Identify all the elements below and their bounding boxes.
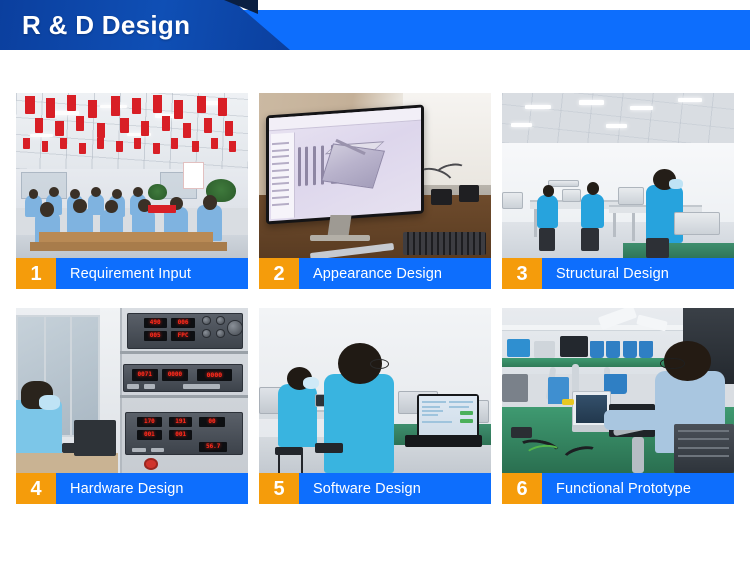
led-readout: 005 [150,333,161,339]
card-label-bar: 6 Functional Prototype [502,473,734,504]
page-title: R & D Design [22,0,190,50]
led-readout: 490 [150,320,161,326]
led-readout: 56.7 [206,444,220,450]
card-number-badge: 1 [16,258,56,289]
led-readout: 191 [175,419,186,425]
process-card[interactable]: 5 Software Design [259,308,491,504]
led-readout: 00 [208,419,215,425]
process-card[interactable]: 6 Functional Prototype [502,308,734,504]
led-readout: FPC [178,333,189,339]
page-header-banner: R & D Design [0,0,750,50]
card-number-badge: 2 [259,258,299,289]
card-photo-functional-prototype [502,308,734,473]
card-label-bar: 5 Software Design [259,473,491,504]
led-readout: 170 [144,419,155,425]
card-label-text: Functional Prototype [542,473,734,504]
card-photo-requirement-input [16,93,248,258]
led-readout: 006 [178,320,189,326]
process-card[interactable]: 1 Requirement Input [16,93,248,289]
led-readout: 001 [175,432,186,438]
card-label-text: Structural Design [542,258,734,289]
process-card-grid: 1 Requirement Input [16,93,734,504]
card-number-badge: 3 [502,258,542,289]
card-photo-structural-design [502,93,734,258]
card-label-text: Appearance Design [299,258,491,289]
header-bar-light [230,10,750,50]
card-label-bar: 1 Requirement Input [16,258,248,289]
card-label-bar: 2 Appearance Design [259,258,491,289]
card-label-text: Software Design [299,473,491,504]
card-label-text: Hardware Design [56,473,248,504]
card-photo-software-design [259,308,491,473]
led-readout: 001 [144,432,155,438]
card-number-badge: 6 [502,473,542,504]
card-label-bar: 3 Structural Design [502,258,734,289]
card-photo-appearance-design [259,93,491,258]
card-label-bar: 4 Hardware Design [16,473,248,504]
card-label-text: Requirement Input [56,258,248,289]
led-readout: 0071 [138,372,152,378]
card-photo-hardware-design: 490 006 005 FPC 0071 0000 0000 [16,308,248,473]
process-card[interactable]: 490 006 005 FPC 0071 0000 0000 [16,308,248,504]
card-number-badge: 4 [16,473,56,504]
card-number-badge: 5 [259,473,299,504]
led-readout: 0000 [168,372,182,378]
process-card[interactable]: 2 Appearance Design [259,93,491,289]
process-card[interactable]: 3 Structural Design [502,93,734,289]
led-readout: 0000 [207,372,223,379]
